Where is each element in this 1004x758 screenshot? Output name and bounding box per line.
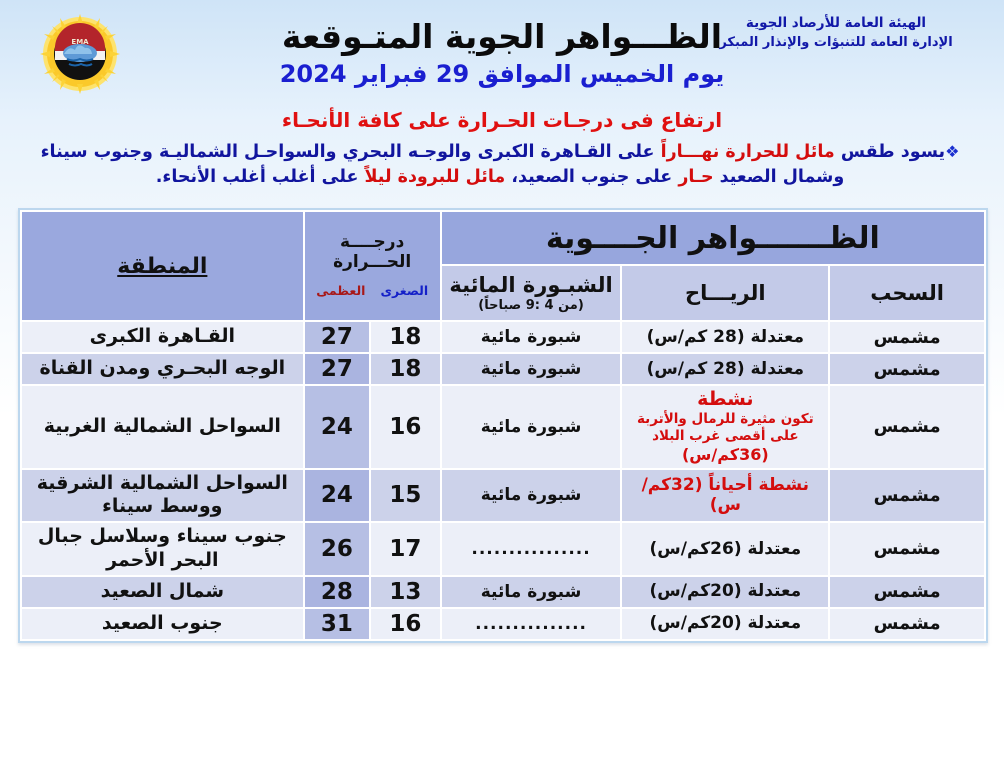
- cell-region: الوجه البحـري ومدن القناة: [22, 354, 303, 384]
- wind-alert-line-1: نشطة: [697, 388, 754, 410]
- cell-temp-max: 24: [305, 470, 369, 522]
- summary-seg-3: وشمال الصعيد: [714, 167, 845, 187]
- header-wind: الريـــاح: [622, 266, 828, 320]
- cell-wind: معتدلة (28 كم/س): [622, 354, 828, 384]
- group-header-temperature: درجــــة الحـــرارة الصغرى العظمى: [305, 212, 440, 320]
- wind-alert-line-3: على أقصى غرب البلاد: [626, 428, 824, 445]
- cell-cloud: مشمس: [830, 386, 984, 468]
- wind-alert: نشطة تكون مثيرة للرمال والأتربة على أقصى…: [626, 390, 824, 465]
- cell-region: شمال الصعيد: [22, 577, 303, 607]
- cell-temp-min: 18: [371, 354, 440, 384]
- cell-fog: شبورة مائية: [442, 322, 621, 352]
- cell-cloud: مشمس: [830, 577, 984, 607]
- cell-wind: نشطة أحياناً (32كم/س): [622, 470, 828, 522]
- headline-warning: ارتفاع فى درجـات الحـرارة على كافة الأنح…: [0, 108, 1004, 132]
- header-fog: الشبـورة المائية (من 4 :9 صباحاً): [442, 266, 621, 320]
- cell-cloud: مشمس: [830, 354, 984, 384]
- cell-wind: معتدلة (26كم/س): [622, 523, 828, 575]
- cell-fog: ...............: [442, 609, 621, 639]
- cell-cloud: مشمس: [830, 470, 984, 522]
- wind-alert: نشطة أحياناً (32كم/س): [642, 475, 809, 516]
- cell-region: جنوب سيناء وسلاسل جبال البحر الأحمر: [22, 523, 303, 575]
- cell-fog: ................: [442, 523, 621, 575]
- header-region: المنطقة: [22, 212, 303, 320]
- table-row: مشمس معتدلة (28 كم/س) شبورة مائية 18 27 …: [22, 354, 984, 384]
- cell-temp-max: 26: [305, 523, 369, 575]
- table-row: مشمس معتدلة (26كم/س) ................ 17…: [22, 523, 984, 575]
- cell-wind: معتدلة (28 كم/س): [622, 322, 828, 352]
- summary-seg-4-hot: مائل للبرودة ليلاً: [365, 167, 506, 187]
- table-header-row-1: الظـــــــواهر الجــــوية درجــــة الحــ…: [22, 212, 984, 264]
- forecast-table-container: الظـــــــواهر الجــــوية درجــــة الحــ…: [18, 208, 988, 643]
- temp-max-label: العظمى: [316, 284, 365, 298]
- summary-seg-1: يسود طقس: [835, 142, 945, 162]
- forecast-table-body: مشمس معتدلة (28 كم/س) شبورة مائية 18 27 …: [22, 322, 984, 639]
- forecast-date: يوم الخميس الموافق 29 فبراير 2024: [0, 60, 1004, 89]
- summary-seg-3-hot: حـار: [678, 167, 713, 187]
- summary-paragraph: ❖يسود طقس مائل للحرارة نهـــاراً على الق…: [10, 140, 990, 191]
- cell-temp-max: 27: [305, 354, 369, 384]
- summary-seg-4: على جنوب الصعيد،: [505, 167, 678, 187]
- bullet-icon: ❖: [945, 142, 959, 161]
- cell-region: السواحل الشمالية الغربية: [22, 386, 303, 468]
- wind-alert-line-2: تكون مثيرة للرمال والأتربة: [626, 411, 824, 428]
- header-region-label: المنطقة: [117, 254, 207, 279]
- wind-alert-line-4: (36كم/س): [682, 445, 769, 464]
- cell-wind: نشطة تكون مثيرة للرمال والأتربة على أقصى…: [622, 386, 828, 468]
- cell-cloud: مشمس: [830, 609, 984, 639]
- cell-fog: شبورة مائية: [442, 577, 621, 607]
- table-row: مشمس معتدلة (20كم/س) ............... 16 …: [22, 609, 984, 639]
- cell-temp-min: 16: [371, 609, 440, 639]
- cell-fog: شبورة مائية: [442, 470, 621, 522]
- temp-min-label: الصغرى: [381, 284, 429, 298]
- cell-temp-max: 28: [305, 577, 369, 607]
- page-title: الظـــواهر الجوية المتـوقعة: [0, 18, 1004, 56]
- weather-forecast-page: EMA الهيئة العامة للأرصاد الجوية الإدارة…: [0, 0, 1004, 758]
- table-row: مشمس معتدلة (28 كم/س) شبورة مائية 18 27 …: [22, 322, 984, 352]
- cell-fog: شبورة مائية: [442, 386, 621, 468]
- header-fog-label: الشبـورة المائية: [449, 273, 612, 297]
- table-row: مشمس معتدلة (20كم/س) شبورة مائية 13 28 ش…: [22, 577, 984, 607]
- summary-seg-2: على القـاهرة الكبرى والوجـه البحري والسو…: [41, 142, 661, 162]
- cell-temp-min: 16: [371, 386, 440, 468]
- cell-temp-min: 17: [371, 523, 440, 575]
- title-block: الظـــواهر الجوية المتـوقعة يوم الخميس ا…: [0, 18, 1004, 89]
- table-row: مشمس نشطة تكون مثيرة للرمال والأتربة على…: [22, 386, 984, 468]
- summary-seg-1-hot: مائل للحرارة نهـــاراً: [661, 142, 835, 162]
- cell-region: السواحل الشمالية الشرقية ووسط سيناء: [22, 470, 303, 522]
- header-fog-sublabel: (من 4 :9 صباحاً): [446, 298, 617, 313]
- cell-temp-max: 24: [305, 386, 369, 468]
- cell-temp-min: 18: [371, 322, 440, 352]
- page-header: EMA الهيئة العامة للأرصاد الجوية الإدارة…: [0, 0, 1004, 198]
- cell-temp-max: 31: [305, 609, 369, 639]
- cell-temp-min: 15: [371, 470, 440, 522]
- cell-region: القـاهرة الكبرى: [22, 322, 303, 352]
- cell-wind: معتدلة (20كم/س): [622, 577, 828, 607]
- cell-wind: معتدلة (20كم/س): [622, 609, 828, 639]
- temp-header-label: درجــــة الحـــرارة: [333, 232, 411, 272]
- summary-seg-5: على أغلب أغلب الأنحاء.: [156, 167, 365, 187]
- cell-cloud: مشمس: [830, 523, 984, 575]
- table-row: مشمس نشطة أحياناً (32كم/س) شبورة مائية 1…: [22, 470, 984, 522]
- group-header-weather: الظـــــــواهر الجــــوية: [442, 212, 984, 264]
- cell-temp-min: 13: [371, 577, 440, 607]
- cell-temp-max: 27: [305, 322, 369, 352]
- cell-cloud: مشمس: [830, 322, 984, 352]
- cell-region: جنوب الصعيد: [22, 609, 303, 639]
- temp-sub-labels: الصغرى العظمى: [309, 284, 436, 298]
- forecast-table: الظـــــــواهر الجــــوية درجــــة الحــ…: [20, 210, 986, 641]
- header-cloud: السحب: [830, 266, 984, 320]
- cell-fog: شبورة مائية: [442, 354, 621, 384]
